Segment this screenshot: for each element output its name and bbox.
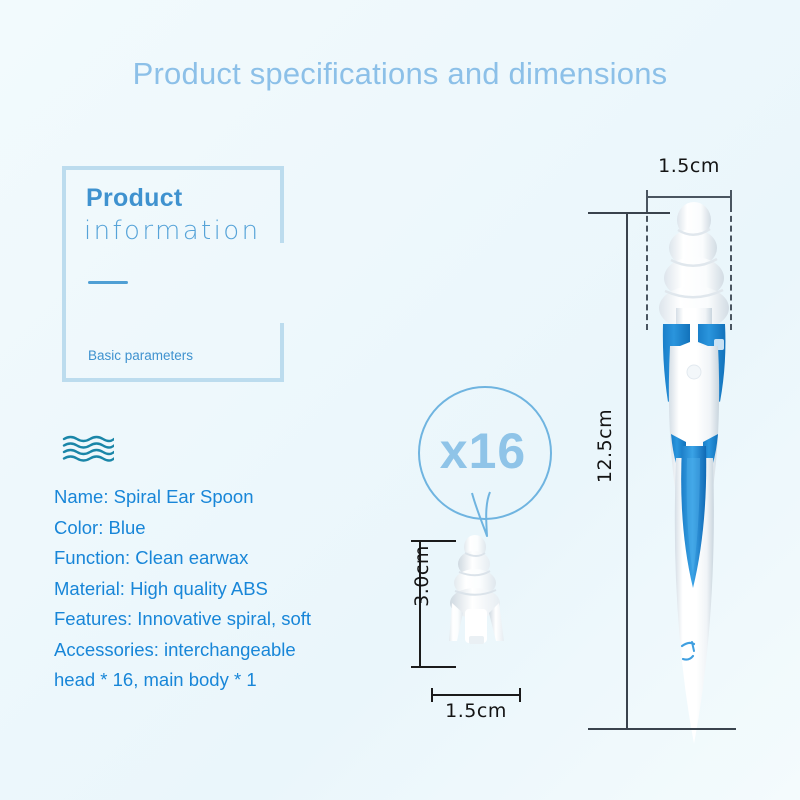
body-width-tick-right bbox=[730, 190, 732, 206]
specification-list: Name: Spiral Ear Spoon Color: Blue Funct… bbox=[54, 482, 394, 696]
head-height-tick-bottom bbox=[411, 666, 456, 668]
infographic-canvas: Product specifications and dimensions Pr… bbox=[0, 0, 800, 800]
card-subtitle: Basic parameters bbox=[88, 348, 193, 363]
head-width-label: 1.5cm bbox=[421, 700, 531, 722]
wave-lines-icon bbox=[62, 434, 114, 464]
card-frame-left bbox=[62, 166, 66, 382]
body-width-tick-left bbox=[646, 190, 648, 206]
card-heading-bold: Product bbox=[86, 184, 183, 213]
spec-line-name: Name: Spiral Ear Spoon bbox=[54, 482, 394, 513]
body-height-dimension-line bbox=[626, 212, 628, 730]
card-frame-right-upper bbox=[280, 166, 284, 243]
head-height-label: 3.0cm bbox=[411, 536, 433, 616]
page-title: Product specifications and dimensions bbox=[0, 56, 800, 92]
body-height-tick-bottom bbox=[588, 728, 736, 730]
spec-line-material: Material: High quality ABS bbox=[54, 574, 394, 605]
card-frame-bottom bbox=[62, 378, 284, 382]
card-heading-light: information bbox=[84, 216, 260, 246]
main-product-image bbox=[630, 196, 760, 746]
spec-line-features: Features: Innovative spiral, soft bbox=[54, 604, 394, 635]
head-width-dimension-line bbox=[431, 694, 521, 696]
spec-line-color: Color: Blue bbox=[54, 513, 394, 544]
card-divider bbox=[88, 281, 128, 284]
card-frame-right-lower bbox=[280, 323, 284, 382]
product-information-card: Product information Basic parameters bbox=[62, 166, 284, 382]
body-width-guide-right bbox=[730, 206, 732, 330]
body-width-dimension-line bbox=[646, 196, 732, 198]
card-frame-top bbox=[62, 166, 284, 170]
body-height-tick-top bbox=[588, 212, 670, 214]
replacement-head-image bbox=[425, 533, 530, 673]
body-height-label: 12.5cm bbox=[594, 386, 616, 506]
spec-line-accessories: Accessories: interchangeable bbox=[54, 635, 394, 666]
body-width-guide-left bbox=[646, 206, 648, 330]
spec-line-function: Function: Clean earwax bbox=[54, 543, 394, 574]
spec-line-accessories-cont: head * 16, main body * 1 bbox=[54, 665, 394, 696]
body-width-label: 1.5cm bbox=[633, 155, 745, 177]
